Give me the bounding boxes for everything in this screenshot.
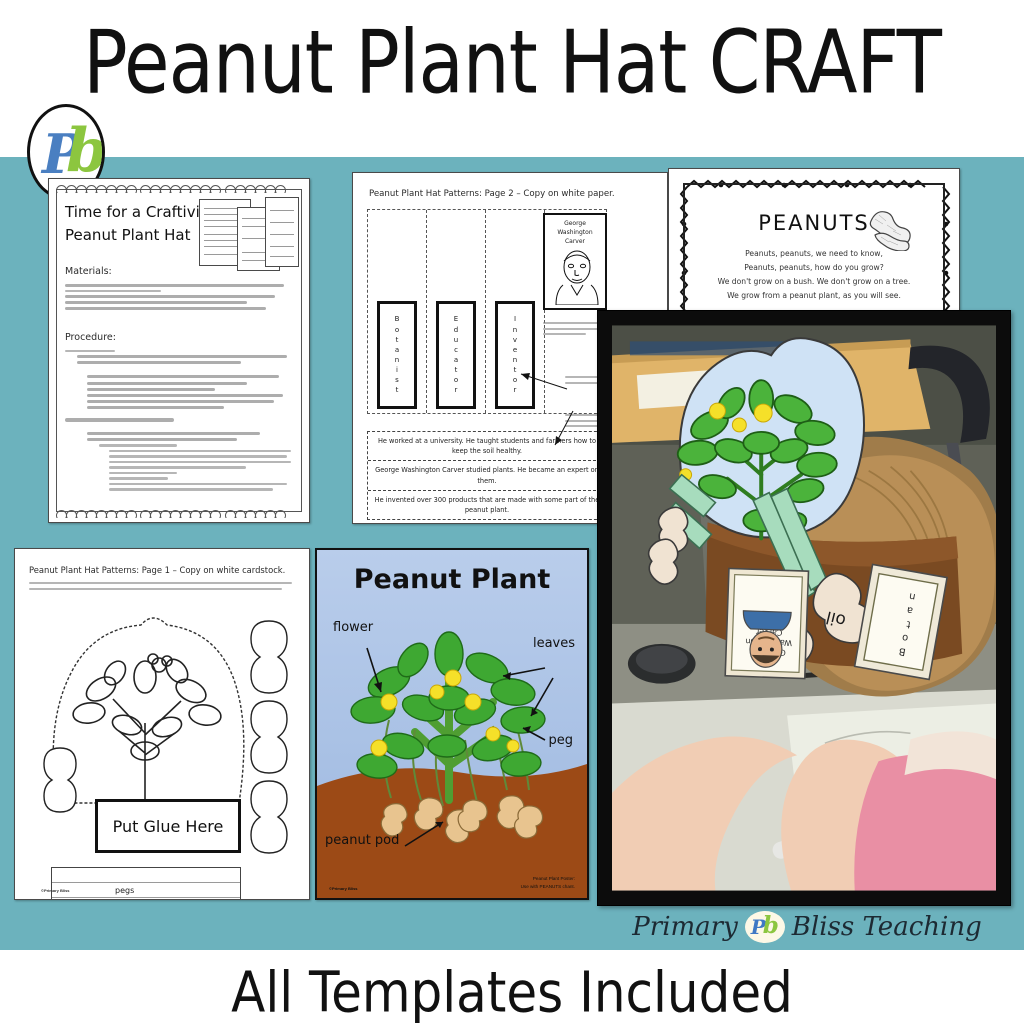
peanut-cutout-shapes	[243, 617, 295, 857]
peanut-cutout-shape-left	[37, 745, 83, 829]
description-strip: He worked at a university. He taught stu…	[368, 432, 606, 461]
chant-poem: Peanuts, peanuts, we need to know, Peanu…	[685, 247, 943, 303]
word-strip-inventor: Inventor	[495, 301, 535, 409]
craftivity-heading-line1: Time for a Craftivity:	[65, 201, 219, 224]
doc-craftivity-instructions[interactable]: Time for a Craftivity: Peanut Plant Hat	[48, 178, 310, 523]
procedure-label: Procedure:	[65, 332, 116, 343]
procedure-hat-block	[65, 418, 293, 491]
plant-diagram-credit: ©Primary Bliss	[329, 886, 358, 891]
chant-poem-line: We don't grow on a bush. We don't grow o…	[685, 275, 943, 289]
brand-pb-logo-icon: P b	[745, 911, 785, 943]
classroom-photo[interactable]: Joseph oil George Washington Carver	[597, 310, 1011, 906]
patterns-page1-credit: ©Primary Bliss	[41, 888, 70, 893]
description-strip: George Washington Carver studied plants.…	[368, 461, 606, 490]
brand-pb-b-letter: b	[763, 914, 779, 937]
page-title: Peanut Plant Hat CRAFT	[0, 18, 1024, 110]
plant-diagram-footer-line1: Peanut Plant Poster:	[521, 875, 575, 883]
strip-column-botanist: Botanist	[368, 210, 427, 413]
peanuts-illustration-icon	[865, 205, 917, 251]
peg-strips-box	[51, 867, 241, 900]
doc-peanut-plant-diagram[interactable]: Peanut Plant flower leaves peg peanut po…	[315, 548, 589, 900]
craftivity-heading-line2: Peanut Plant Hat	[65, 224, 219, 247]
plant-diagram-title: Peanut Plant	[317, 564, 587, 595]
label-peg: peg	[548, 733, 573, 748]
pegs-label: pegs	[115, 886, 134, 895]
craftivity-heading: Time for a Craftivity: Peanut Plant Hat	[65, 201, 219, 246]
label-flower: flower	[333, 620, 373, 635]
put-glue-here-box: Put Glue Here	[95, 799, 241, 853]
word-strip-educator: Educator	[436, 301, 476, 409]
materials-label: Materials:	[65, 266, 112, 277]
chant-poem-line: We grow from a peanut plant, as you will…	[685, 289, 943, 303]
materials-item	[65, 307, 293, 310]
arrow-to-word-flags-icon	[511, 369, 569, 391]
patterns-page2-title: Peanut Plant Hat Patterns: Page 2 – Copy…	[369, 189, 615, 199]
plant-diagram-footer-line2: Use with PEANUTS chant.	[521, 883, 575, 891]
classroom-photo-image: Joseph oil George Washington Carver	[612, 325, 996, 891]
student-wearing-peanut-hat-illustration: Joseph oil George Washington Carver	[612, 325, 996, 891]
carver-portrait-card: George Washington Carver	[543, 213, 607, 310]
brand-footer: Primary P b Bliss Teaching	[612, 905, 1002, 949]
pb-logo-b-letter: b	[66, 121, 105, 181]
doc-hat-patterns-page-1[interactable]: Peanut Plant Hat Patterns: Page 1 – Copy…	[14, 548, 310, 900]
carver-face-illustration	[554, 245, 600, 305]
strip-column-educator: Educator	[427, 210, 486, 413]
carver-description-strips: He worked at a university. He taught stu…	[367, 431, 607, 520]
description-strip: He invented over 300 products that are m…	[368, 491, 606, 519]
craftivity-thumbnail-group	[199, 197, 299, 271]
plant-diagram-footer-note: Peanut Plant Poster: Use with PEANUTS ch…	[521, 875, 575, 891]
brand-bliss-teaching-text: Bliss Teaching	[792, 912, 982, 942]
materials-list	[65, 284, 293, 311]
label-leaves: leaves	[533, 636, 575, 651]
patterns-page1-subtitle	[29, 579, 295, 593]
poster-canvas: Peanut Plant Hat CRAFT All Templates Inc…	[0, 0, 1024, 1024]
materials-item	[65, 301, 293, 304]
materials-item	[65, 284, 293, 292]
procedure-section: Procedure:	[65, 331, 293, 494]
materials-section: Materials:	[65, 265, 293, 314]
materials-item	[65, 295, 293, 298]
patterns-page1-title: Peanut Plant Hat Patterns: Page 1 – Copy…	[29, 565, 285, 575]
carver-card-title: George Washington Carver	[545, 215, 605, 246]
brand-primary-text: Primary	[632, 912, 738, 942]
procedure-chant-block	[65, 350, 293, 409]
page-footer-title: All Templates Included	[0, 960, 1024, 1024]
thumbnail-page-3	[265, 197, 299, 267]
label-peanut-pod: peanut pod	[325, 833, 399, 848]
word-strip-botanist: Botanist	[377, 301, 417, 409]
chant-poem-line: Peanuts, peanuts, how do you grow?	[685, 261, 943, 275]
